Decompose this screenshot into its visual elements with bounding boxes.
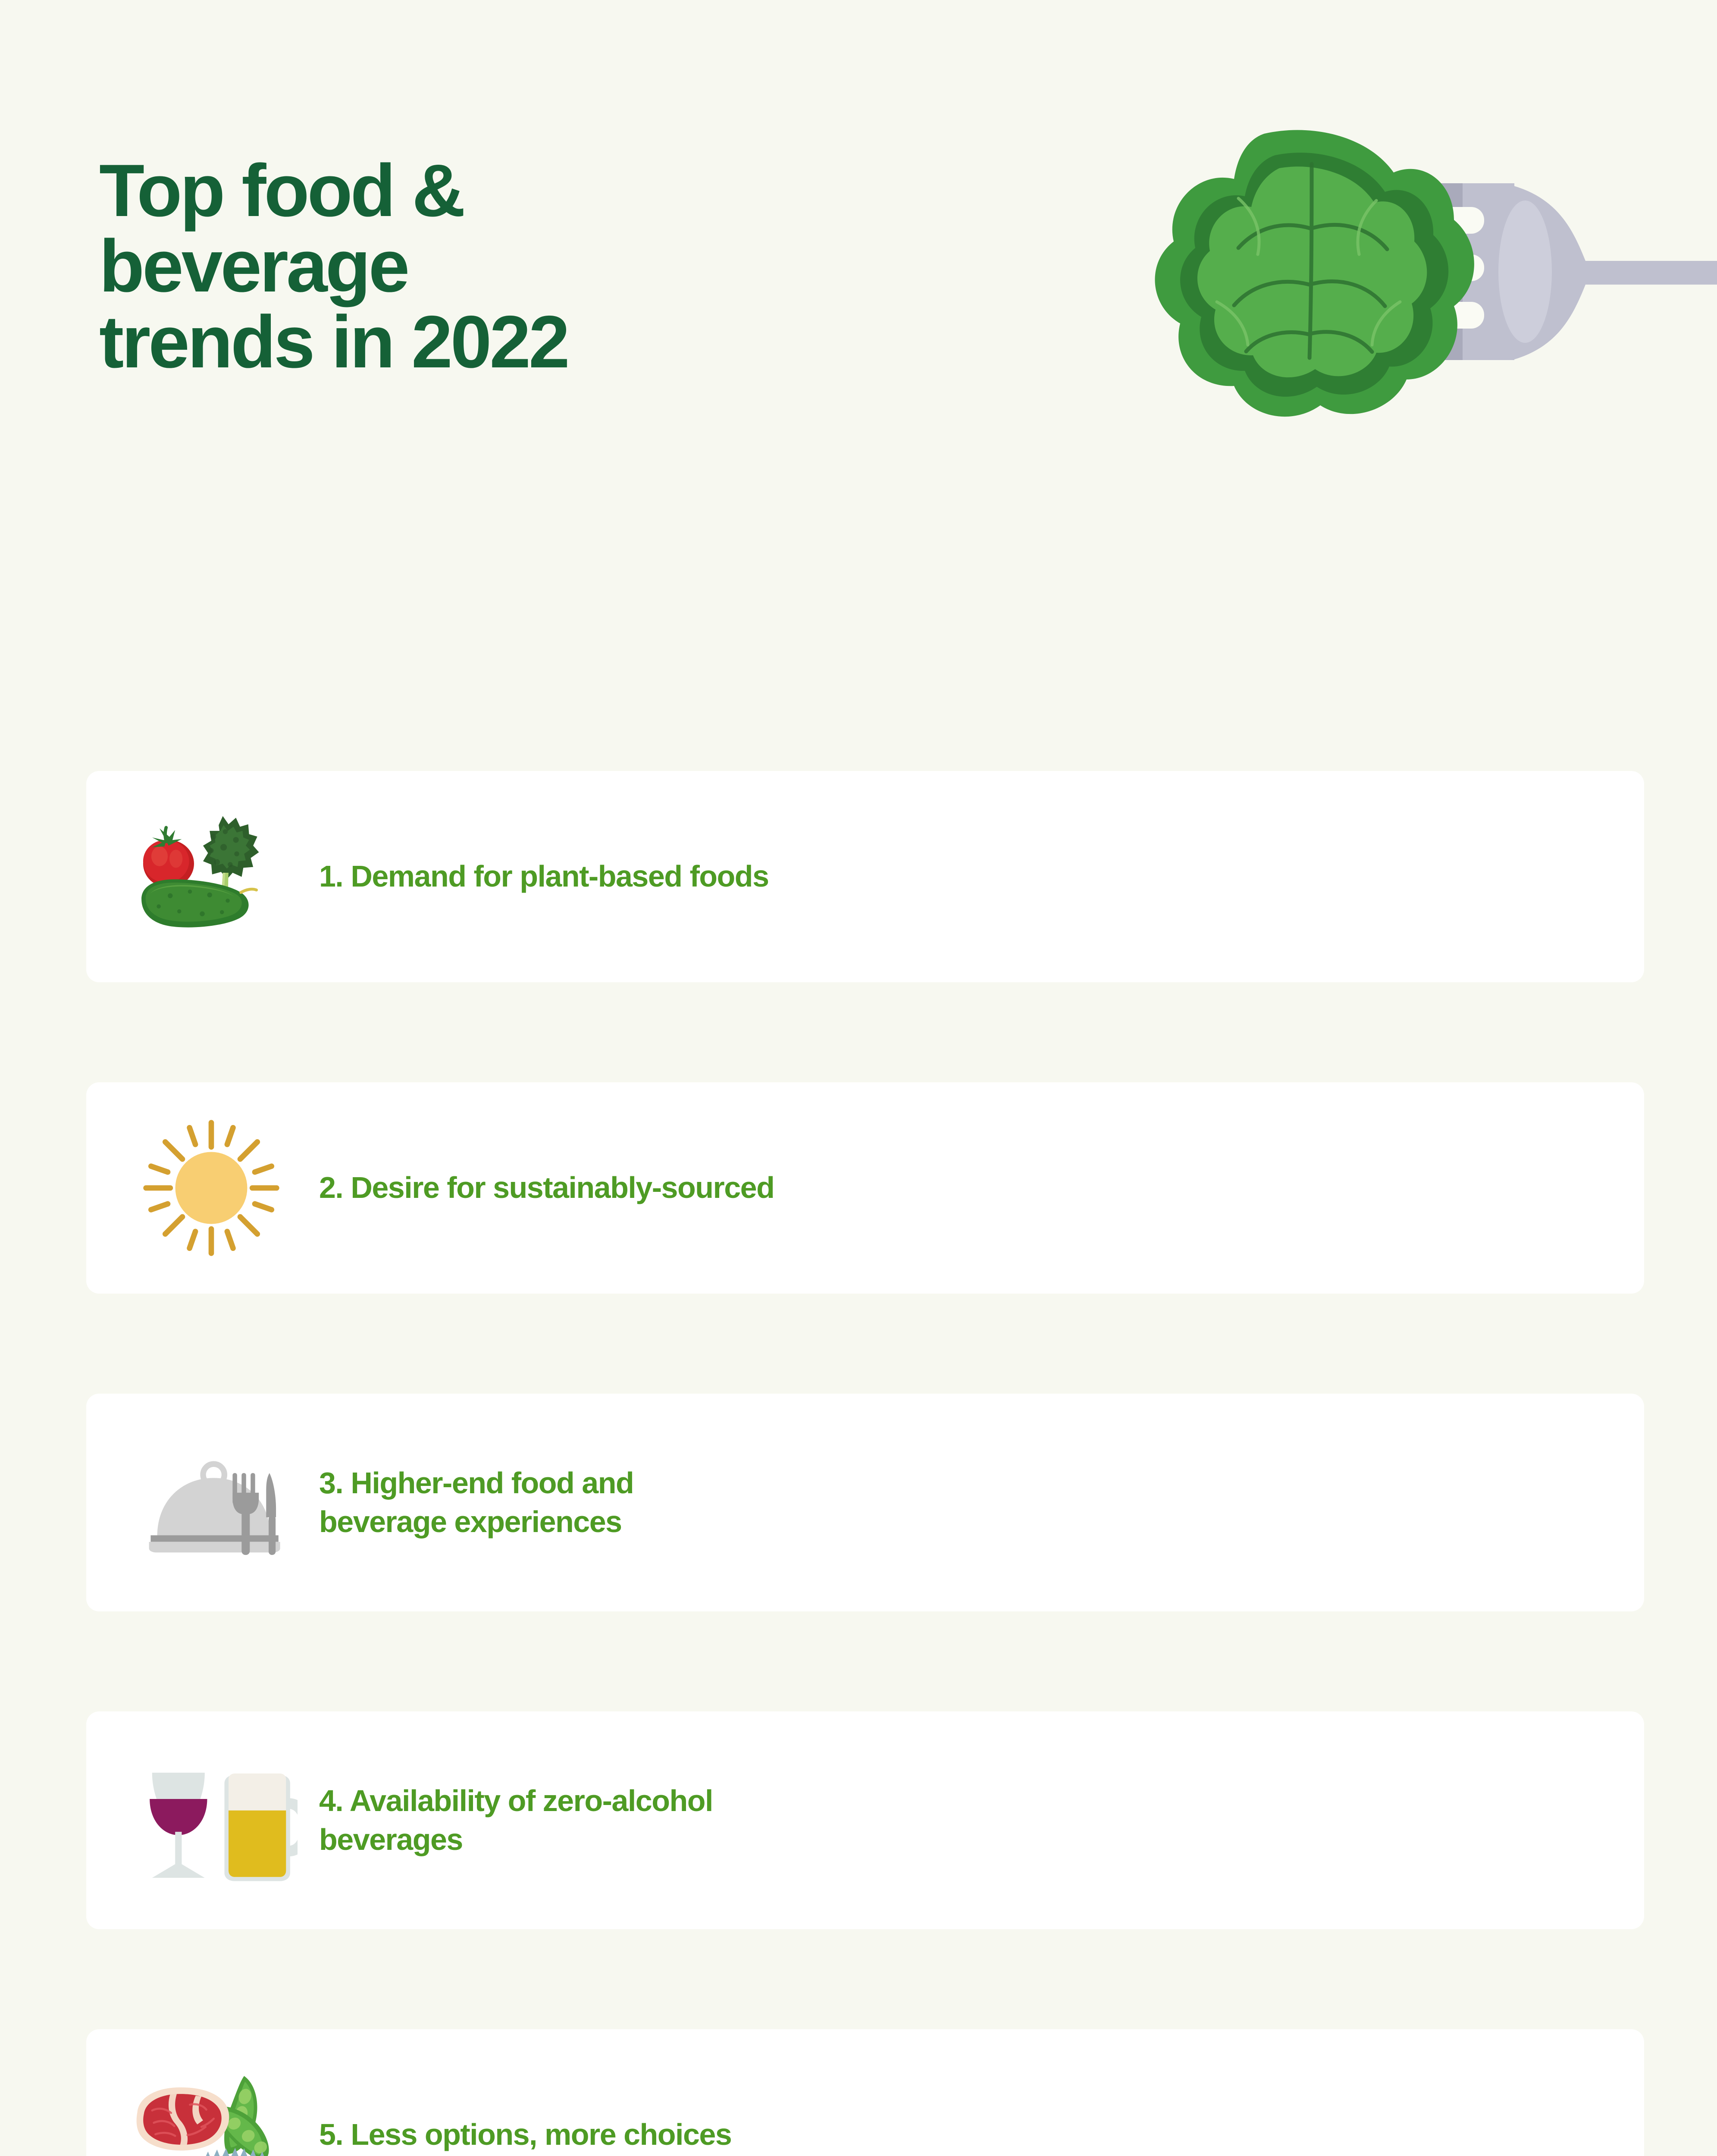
trend-card-3[interactable]: 3. Higher-end food and beverage experien… [86,1394,1644,1611]
trend-label-4: 4. Availability of zero-alcohol beverage… [310,1782,713,1859]
trend-card-2[interactable]: 2. Desire for sustainably-sourced [86,1082,1644,1294]
vegetables-icon [112,803,310,950]
trend-label-5: 5. Less options, more choices [310,2115,731,2154]
trend-card-4[interactable]: 4. Availability of zero-alcohol beverage… [86,1711,1644,1929]
trend-label-3: 3. Higher-end food and beverage experien… [310,1464,633,1541]
infographic-page: Top food & beverage trends in 2022 [0,0,1717,2156]
trend-card-1[interactable]: 1. Demand for plant-based foods [86,771,1644,982]
lettuce-on-fork-icon [1109,99,1717,444]
page-title: Top food & beverage trends in 2022 [99,153,1091,380]
trend-list: 1. Demand for plant-based foods [86,771,1644,2156]
trend-card-5[interactable]: 5. Less options, more choices [86,2029,1644,2156]
wine-beer-icon [112,1747,310,1894]
cloche-cutlery-icon [112,1429,310,1576]
trend-label-2: 2. Desire for sustainably-sourced [310,1169,774,1207]
trend-label-1: 1. Demand for plant-based foods [310,857,769,896]
meat-fish-icon [112,2062,310,2156]
sun-icon [112,1115,310,1261]
